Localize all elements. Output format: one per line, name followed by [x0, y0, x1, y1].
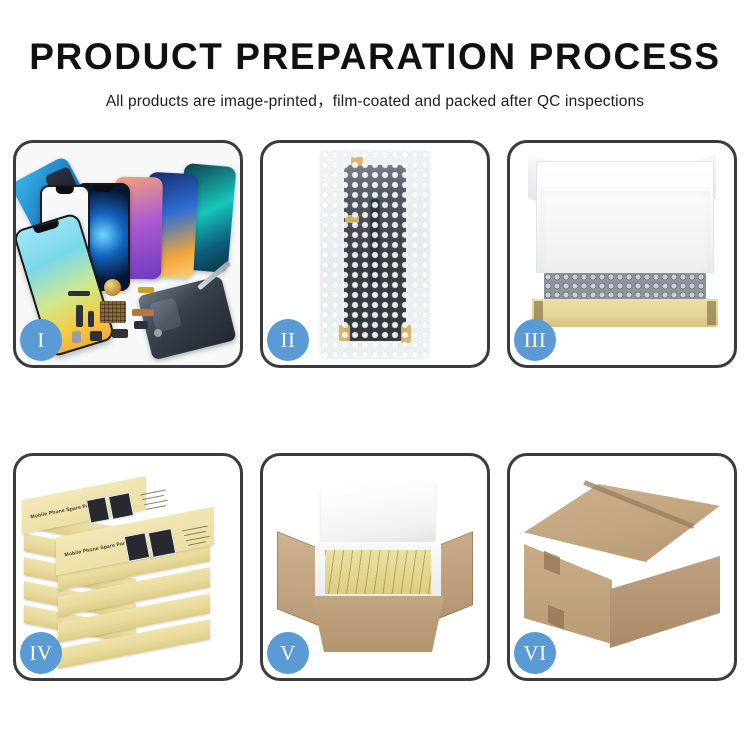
chip-array-part [100, 301, 126, 323]
carton-front-panel [303, 596, 453, 652]
carton-right-face [610, 556, 720, 648]
process-grid: I II [13, 140, 737, 681]
carton-left-face [524, 544, 612, 644]
speaker-module-icon [104, 279, 121, 296]
bubble-texture [321, 151, 429, 357]
bubble-wrap-bag [321, 151, 429, 357]
phone-notch-icon [93, 185, 113, 192]
step-panel-3: III [507, 140, 737, 368]
flex-cable-part [68, 291, 90, 296]
box-label-image-2 [108, 492, 134, 520]
infographic-page: PRODUCT PREPARATION PROCESS All products… [0, 0, 750, 750]
page-subtitle: All products are image-printed，film-coat… [0, 89, 750, 111]
step-panel-4: Mobile Phone Spare Parts Mobile Phone Sp… [13, 453, 243, 681]
page-title: PRODUCT PREPARATION PROCESS [0, 38, 750, 77]
step-badge-5: V [267, 632, 309, 674]
vibrator-part [90, 331, 102, 341]
gold-connector-part [138, 287, 154, 293]
small-flex-part [88, 311, 94, 327]
step-badge-6: VI [514, 632, 556, 674]
step-badge-4: IV [20, 632, 62, 674]
box-label-image-4 [148, 528, 177, 558]
box-label-textline [146, 505, 166, 510]
box-bubble-contents [544, 273, 706, 300]
step-panel-5: V [260, 453, 490, 681]
ribbon-cable-part [76, 305, 83, 327]
step-badge-2: II [267, 319, 309, 361]
step-panel-6: VI [507, 453, 737, 681]
step-panel-1: I [13, 140, 243, 368]
screw-part [154, 329, 162, 337]
step-panel-2: II [260, 140, 490, 368]
header: PRODUCT PREPARATION PROCESS All products… [0, 38, 750, 111]
box-label-image-1 [86, 496, 110, 523]
receiver-part [112, 329, 128, 338]
step-badge-3: III [514, 319, 556, 361]
copper-contact-part [132, 309, 154, 316]
box-kraft-front [532, 299, 718, 327]
box-label-image-3 [124, 532, 151, 562]
step-badge-1: I [20, 319, 62, 361]
sim-tray-part [72, 331, 81, 343]
box-foam-sheet [540, 191, 710, 273]
camera-module-part [134, 321, 148, 329]
phone-notch-icon [56, 187, 74, 194]
packed-yellow-boxes [325, 550, 431, 594]
